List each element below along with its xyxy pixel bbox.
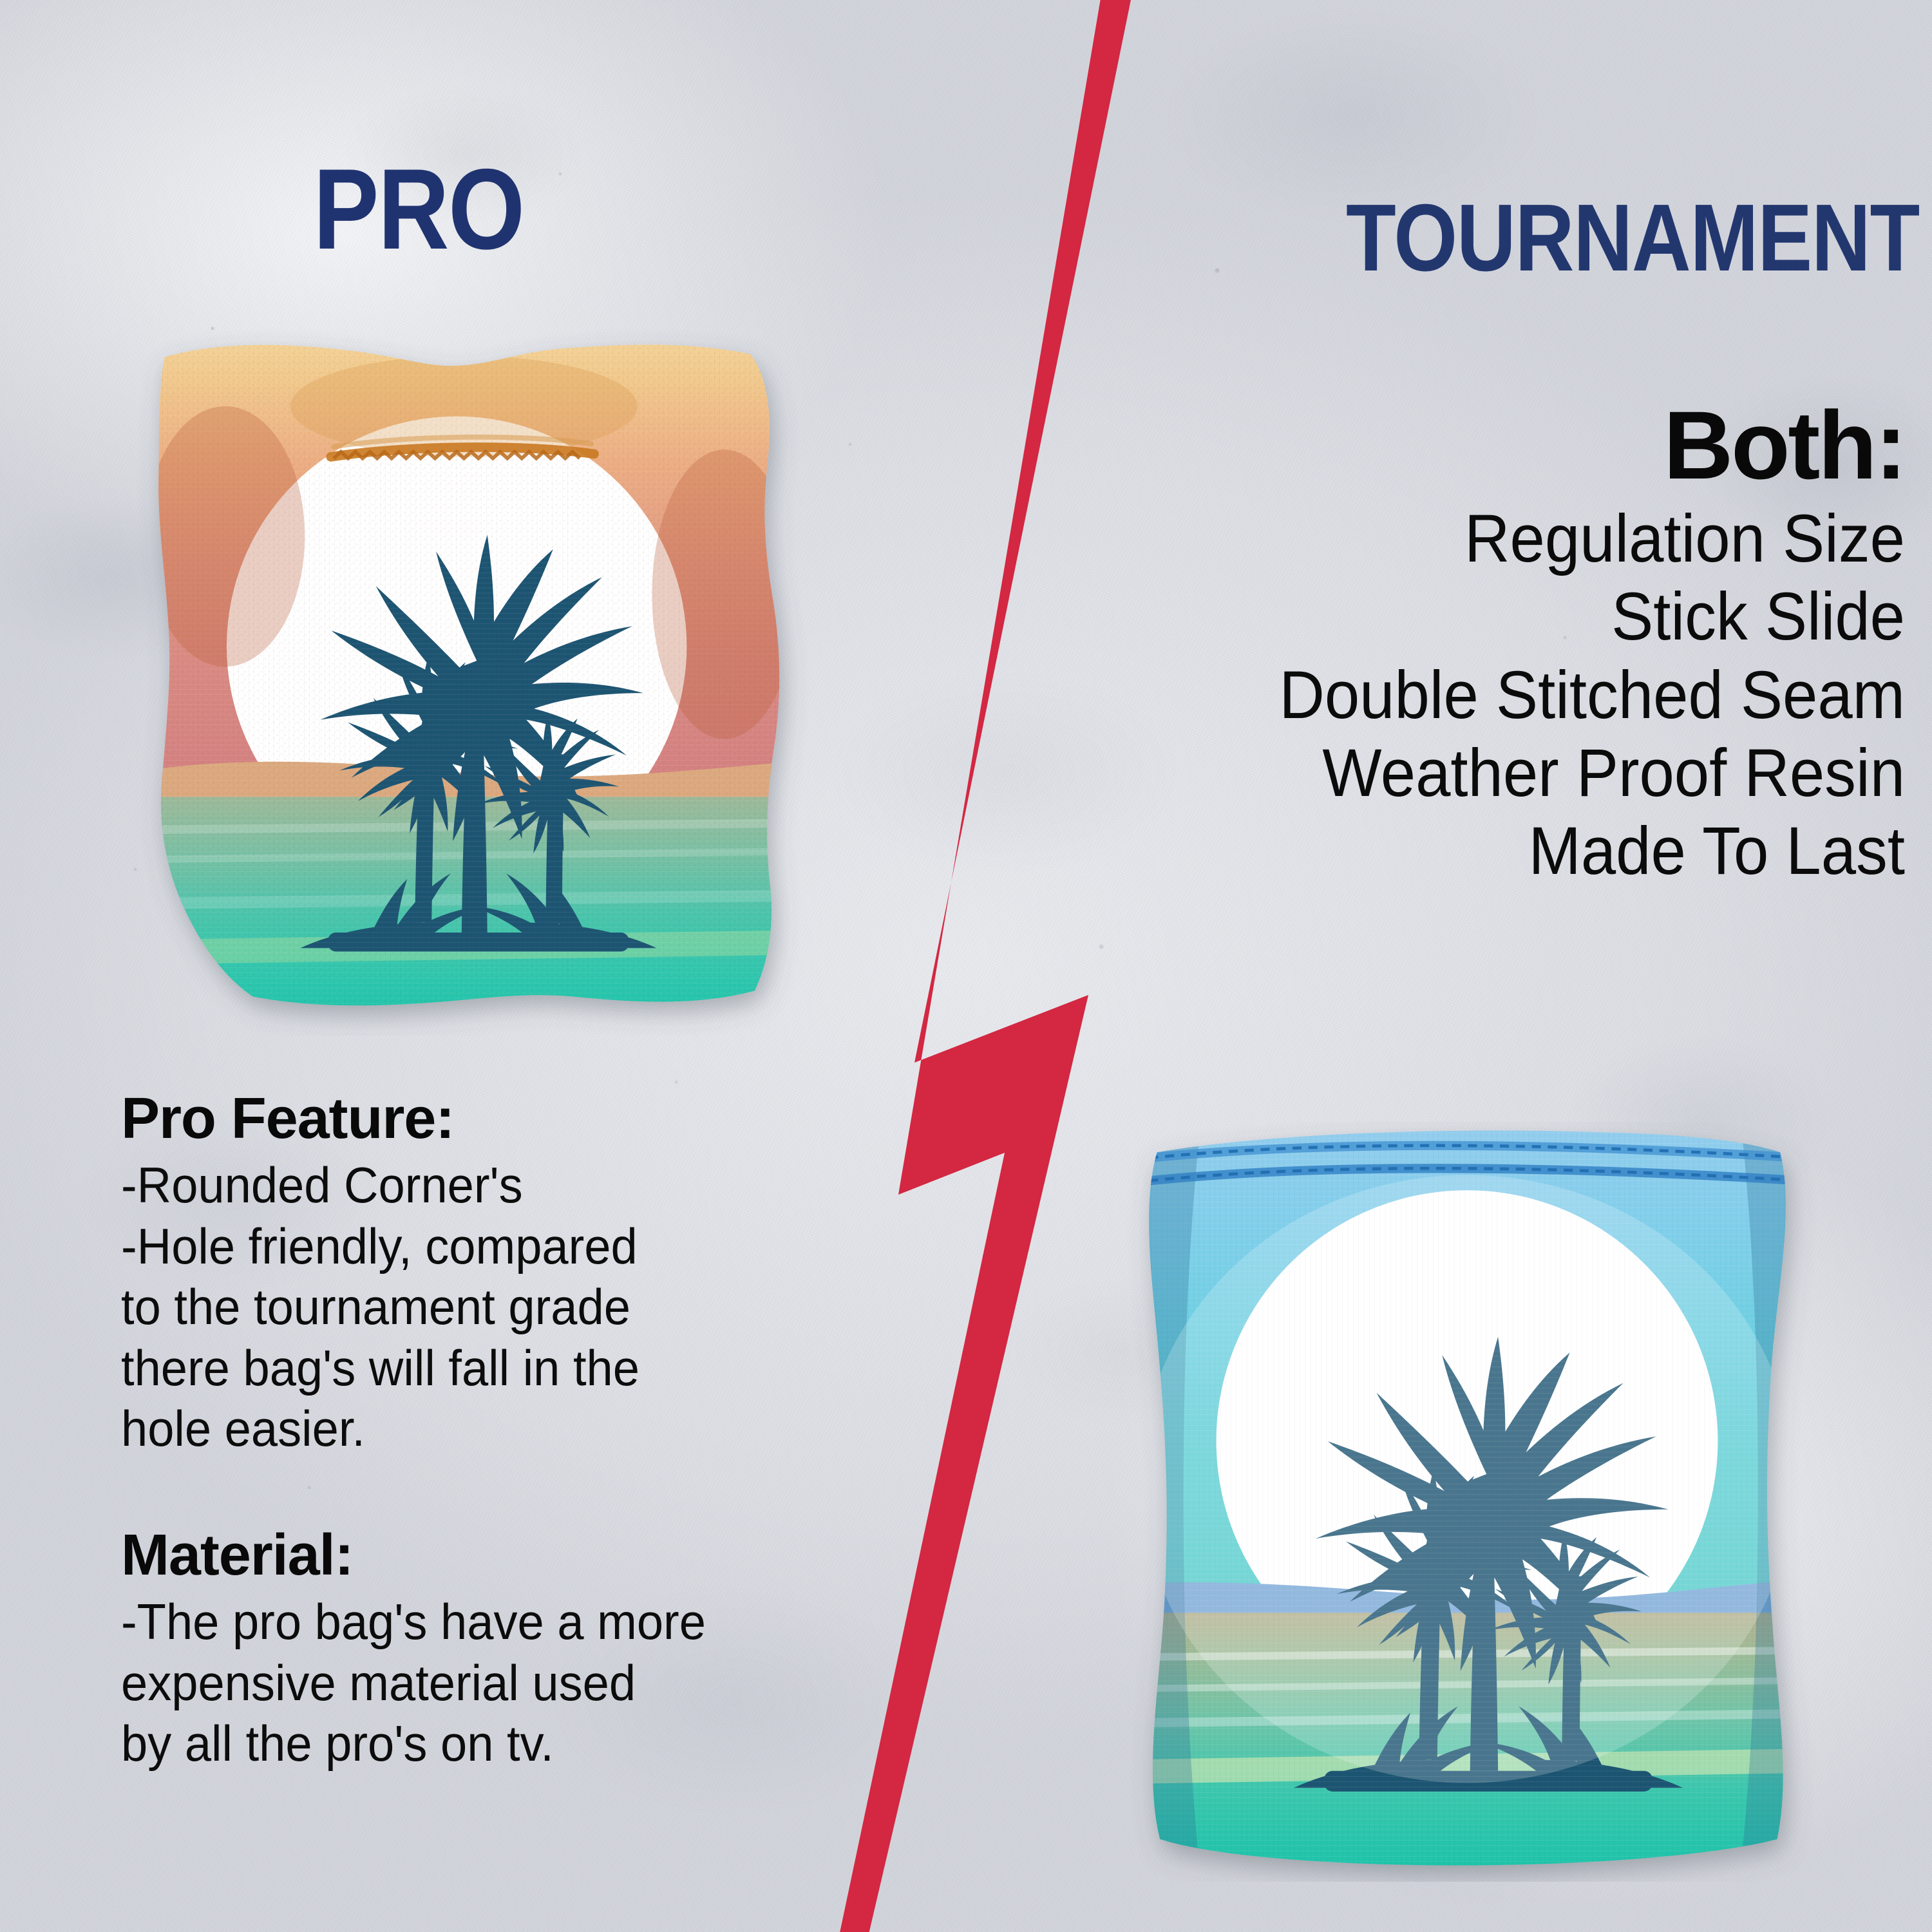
pro-feature-block: Pro Feature: -Rounded Corner's -Hole fri…	[121, 1088, 739, 1459]
both-feature-item: Regulation Size	[971, 500, 1905, 578]
material-block: Material: -The pro bag's have a more exp…	[121, 1525, 739, 1774]
pro-feature-heading: Pro Feature:	[121, 1088, 739, 1150]
both-feature-item: Weather Proof Resin	[971, 734, 1905, 812]
material-line: by all the pro's on tv.	[121, 1713, 708, 1774]
both-features-block: Both: Regulation Size Stick Slide Double…	[900, 397, 1905, 890]
pro-feature-line: -Hole friendly, compared	[121, 1216, 708, 1276]
pro-bag-artwork	[109, 319, 826, 1036]
both-feature-item: Made To Last	[971, 812, 1905, 890]
pro-feature-line: to the tournament grade	[121, 1276, 708, 1337]
tournament-cornhole-bag	[1087, 1122, 1847, 1882]
pro-cornhole-bag	[109, 319, 826, 1036]
material-heading: Material:	[121, 1525, 739, 1586]
both-heading: Both:	[900, 397, 1905, 493]
pro-feature-line: hole easier.	[121, 1398, 708, 1459]
infographic-canvas: PRO TOURNAMENT	[0, 0, 1932, 1932]
pro-feature-line: -Rounded Corner's	[121, 1155, 708, 1215]
pro-feature-line: there bag's will fall in the	[121, 1338, 708, 1398]
both-feature-item: Stick Slide	[971, 578, 1905, 656]
material-line: -The pro bag's have a more	[121, 1591, 708, 1652]
tournament-bag-artwork	[1087, 1122, 1847, 1882]
material-line: expensive material used	[121, 1653, 708, 1713]
both-feature-item: Double Stitched Seam	[971, 656, 1905, 734]
